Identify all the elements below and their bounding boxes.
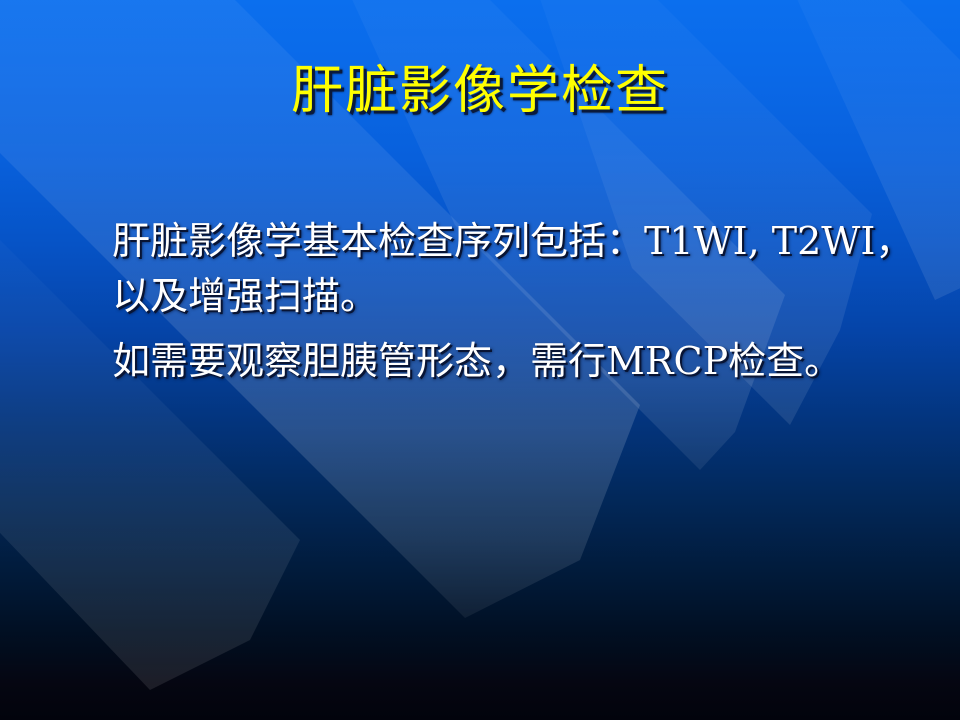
slide-title: 肝脏影像学检查 xyxy=(0,62,960,122)
presentation-slide: 肝脏影像学检查 肝脏影像学基本检查序列包括：T1WI, T2WI，以及增强扫描。… xyxy=(0,0,960,720)
slide-body: 肝脏影像学基本检查序列包括：T1WI, T2WI，以及增强扫描。 如需要观察胆胰… xyxy=(112,214,932,399)
body-paragraph-1: 肝脏影像学基本检查序列包括：T1WI, T2WI，以及增强扫描。 xyxy=(112,214,932,324)
body-paragraph-2: 如需要观察胆胰管形态，需行MRCP检查。 xyxy=(112,334,932,389)
